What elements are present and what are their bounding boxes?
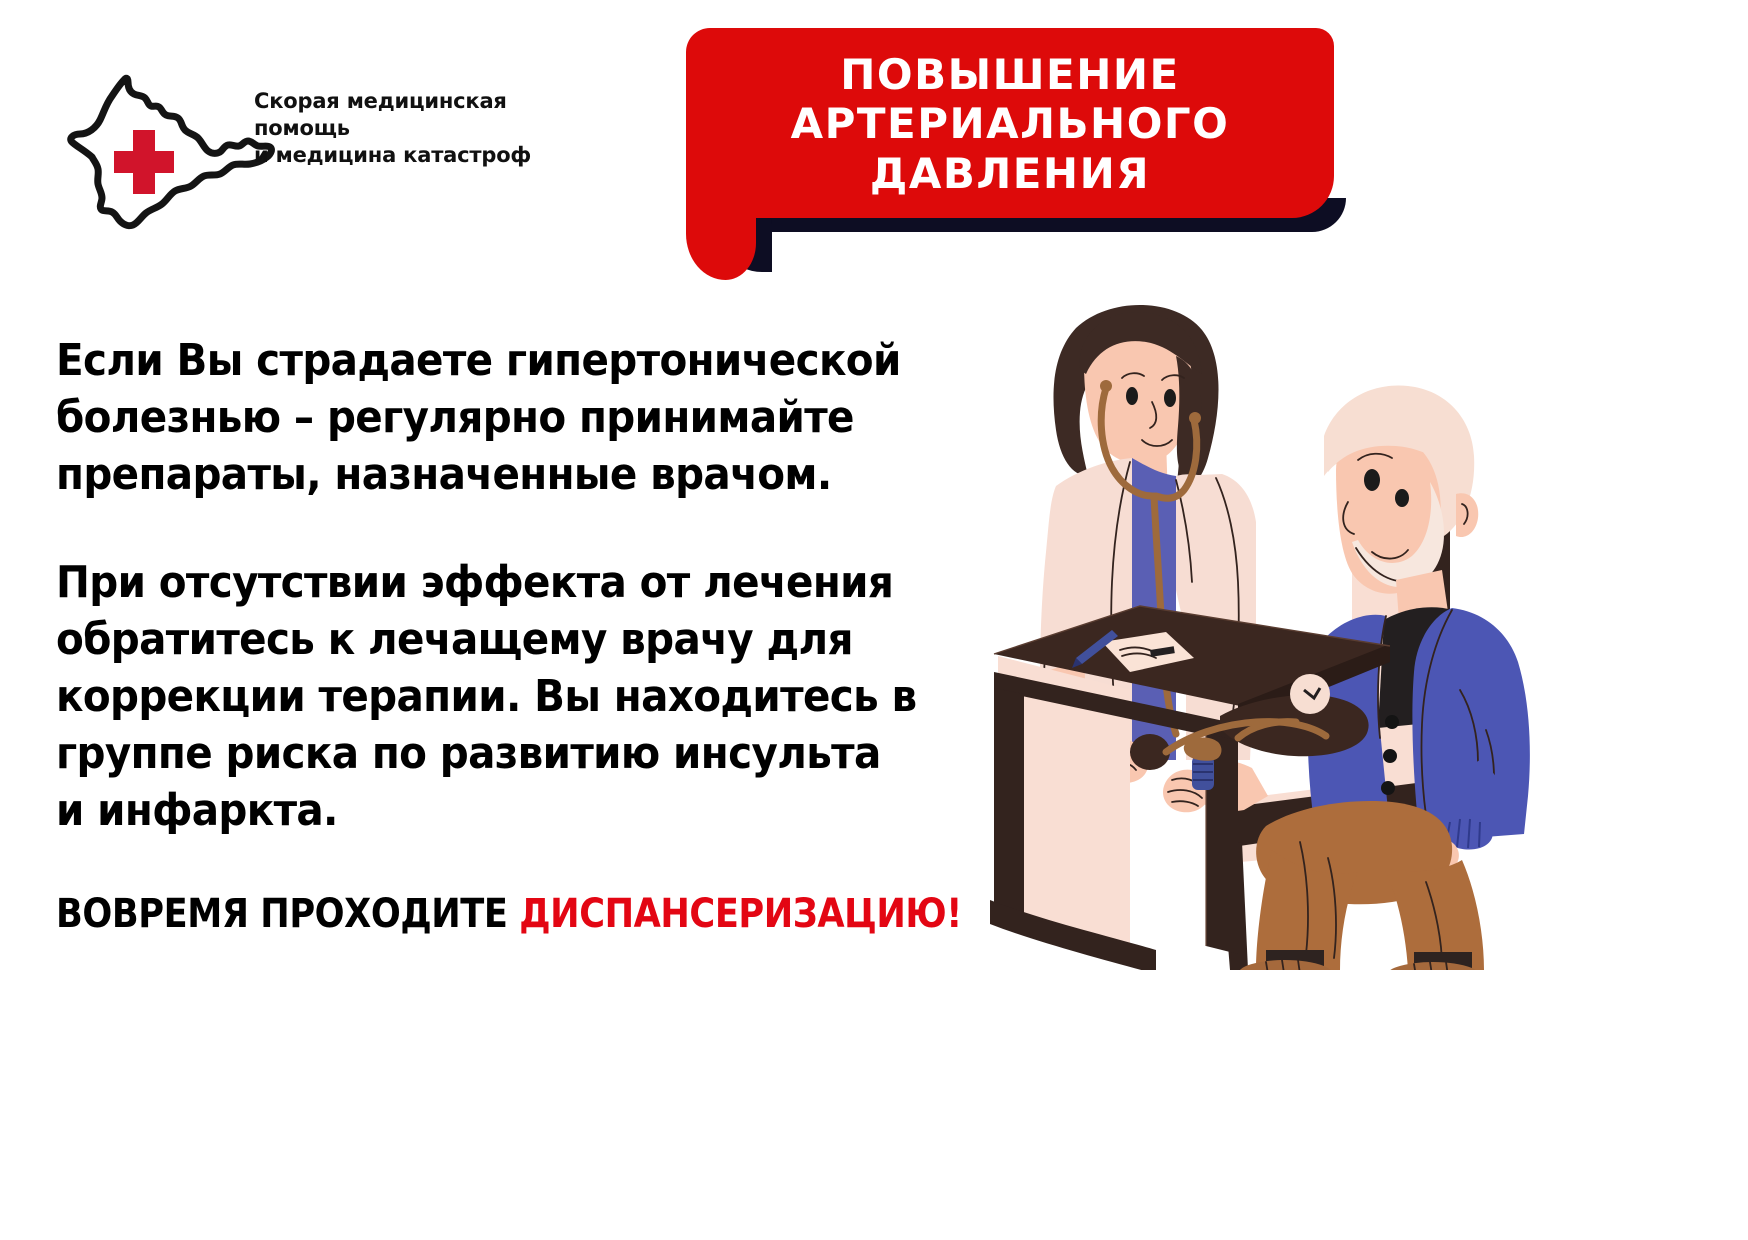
organization-logo: Скорая медицинская помощь и медицина кат… [36, 34, 556, 244]
patient-eye-right [1395, 489, 1409, 507]
patient-eye-left [1364, 469, 1380, 491]
advice-paragraph-1: Если Вы страдаете гипертонической болезн… [56, 332, 921, 504]
logo-name-line-1: Скорая медицинская помощь [254, 89, 507, 140]
call-to-action: ВОВРЕМЯ ПРОХОДИТЕ ДИСПАНСЕРИЗАЦИЮ! [56, 892, 883, 936]
cardigan-button [1381, 781, 1395, 795]
doctor-eye-left [1126, 387, 1138, 405]
doctor-eye-right [1164, 389, 1176, 407]
page-title-line-1: ПОВЫШЕНИЕ [840, 51, 1179, 98]
doctor-measuring-blood-pressure-illustration: .sk { fill:#f9c7b0; } .sk2 { fill:#f2b8a… [980, 290, 1720, 970]
header-ribbon-banner: ПОВЫШЕНИЕ АРТЕРИАЛЬНОГО ДАВЛЕНИЯ [686, 28, 1334, 224]
cardigan-button [1385, 715, 1399, 729]
cta-black-text: ВОВРЕМЯ ПРОХОДИТЕ [56, 891, 519, 937]
advice-paragraph-2: При отсутствии эффекта от лечения обрати… [56, 554, 921, 840]
logo-organization-name: Скорая медицинская помощь и медицина кат… [254, 88, 554, 169]
body-copy: Если Вы страдаете гипертонической болезн… [56, 332, 996, 936]
page-title-line-3: ДАВЛЕНИЯ [870, 150, 1150, 197]
cardigan-button [1383, 749, 1397, 763]
poster-canvas: Скорая медицинская помощь и медицина кат… [0, 0, 1748, 1240]
logo-name-line-2: и медицина катастроф [254, 142, 554, 169]
page-title-line-2: АРТЕРИАЛЬНОГО [791, 100, 1230, 147]
page-title: ПОВЫШЕНИЕ АРТЕРИАЛЬНОГО ДАВЛЕНИЯ [686, 28, 1334, 218]
cta-highlight-text: ДИСПАНСЕРИЗАЦИЮ! [519, 891, 962, 937]
